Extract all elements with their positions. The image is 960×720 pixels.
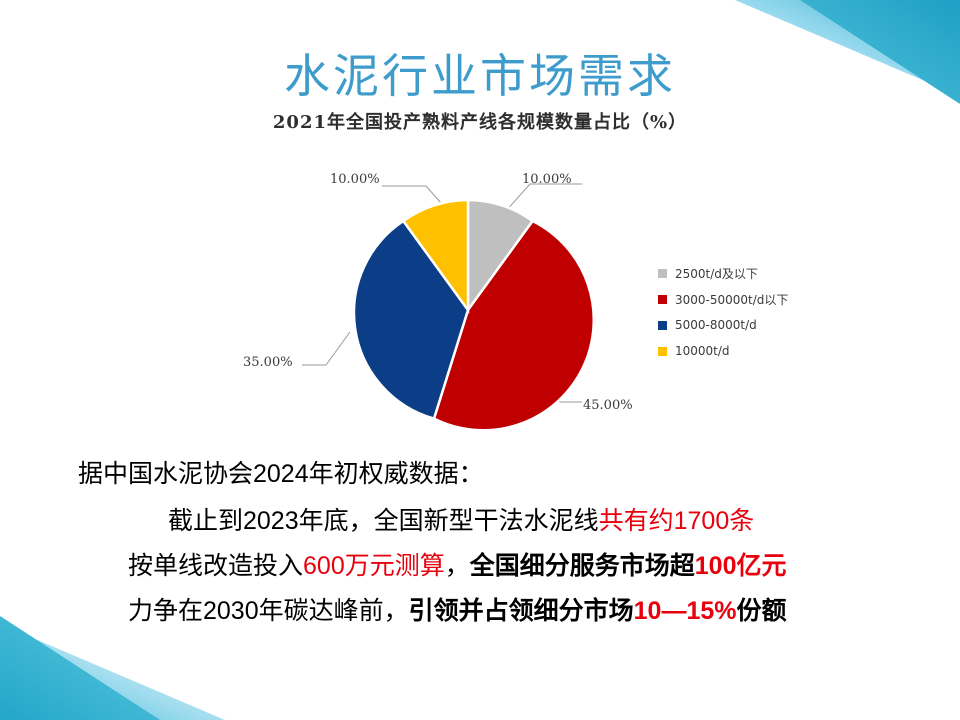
ribbon-bottom-left-light bbox=[0, 624, 225, 720]
leader-line-top-right bbox=[505, 184, 582, 212]
legend-label: 2500t/d及以下 bbox=[675, 265, 758, 282]
body-line-4-text: 力争在2030年碳达峰前， bbox=[128, 597, 409, 625]
body-text-block: 据中国水泥协会2024年初权威数据： 截止到2023年底，全国新型干法水泥线共有… bbox=[0, 462, 960, 624]
body-line-3-highlight-value: 100亿元 bbox=[695, 552, 787, 580]
leader-line-bottom-left bbox=[302, 332, 350, 365]
legend-item-3000-50000td: 3000-50000t/d以下 bbox=[658, 288, 788, 310]
legend-label: 5000-8000t/d bbox=[675, 318, 757, 332]
body-line-4-emphasis: 引领并占领细分市场 bbox=[409, 597, 634, 625]
legend-swatch-icon bbox=[658, 295, 667, 304]
body-line-4: 力争在2030年碳达峰前，引领并占领细分市场10—15%份额 bbox=[128, 599, 960, 624]
body-line-1-text: 据中国水泥协会2024年初权威数据： bbox=[78, 460, 484, 488]
title-block: 水泥行业市场需求 2021年全国投产熟料产线各规模数量占比（%） bbox=[0, 52, 960, 134]
pie-label-top-right: 10.00% bbox=[522, 172, 572, 187]
body-line-2-highlight: 共有约1700条 bbox=[599, 507, 755, 535]
legend-swatch-icon bbox=[658, 269, 667, 278]
body-line-3-emphasis: 全国细分服务市场超 bbox=[470, 552, 695, 580]
legend-item-5000-8000td: 5000-8000t/d bbox=[658, 314, 788, 336]
legend-item-2500td: 2500t/d及以下 bbox=[658, 262, 788, 284]
pie-label-bottom-right: 45.00% bbox=[583, 398, 633, 413]
pie-label-bottom-left: 35.00% bbox=[243, 355, 293, 370]
body-line-3: 按单线改造投入600万元测算，全国细分服务市场超100亿元 bbox=[128, 554, 960, 579]
pie-label-top-left: 10.00% bbox=[330, 172, 380, 187]
body-line-3-comma: ， bbox=[445, 552, 470, 580]
legend-label: 10000t/d bbox=[675, 344, 730, 358]
body-line-2-text: 截止到2023年底，全国新型干法水泥线 bbox=[168, 507, 599, 535]
ribbon-bottom-left-dark bbox=[0, 616, 160, 720]
body-line-3-highlight-cost: 600万元测算 bbox=[303, 552, 445, 580]
body-line-1: 据中国水泥协会2024年初权威数据： bbox=[78, 462, 960, 487]
slide-canvas: 水泥行业市场需求 2021年全国投产熟料产线各规模数量占比（%） 10.00% … bbox=[0, 0, 960, 720]
legend-swatch-icon bbox=[658, 321, 667, 330]
legend-item-10000td: 10000t/d bbox=[658, 340, 788, 362]
body-line-4-highlight-share: 10—15% bbox=[634, 597, 737, 625]
legend-label: 3000-50000t/d以下 bbox=[675, 291, 788, 308]
body-line-4-suffix: 份额 bbox=[737, 597, 787, 625]
body-line-2: 截止到2023年底，全国新型干法水泥线共有约1700条 bbox=[168, 509, 960, 534]
body-line-3-text: 按单线改造投入 bbox=[128, 552, 303, 580]
page-title: 水泥行业市场需求 bbox=[0, 52, 960, 102]
pie-chart-area: 10.00% 10.00% 35.00% 45.00% 2500t/d及以下 3… bbox=[230, 150, 850, 450]
ribbon-bottom-left-mid bbox=[0, 680, 82, 720]
chart-caption: 2021年全国投产熟料产线各规模数量占比（%） bbox=[0, 108, 960, 134]
ribbon-top-right-mid bbox=[878, 0, 960, 40]
legend-swatch-icon bbox=[658, 347, 667, 356]
chart-legend: 2500t/d及以下 3000-50000t/d以下 5000-8000t/d … bbox=[658, 262, 788, 366]
